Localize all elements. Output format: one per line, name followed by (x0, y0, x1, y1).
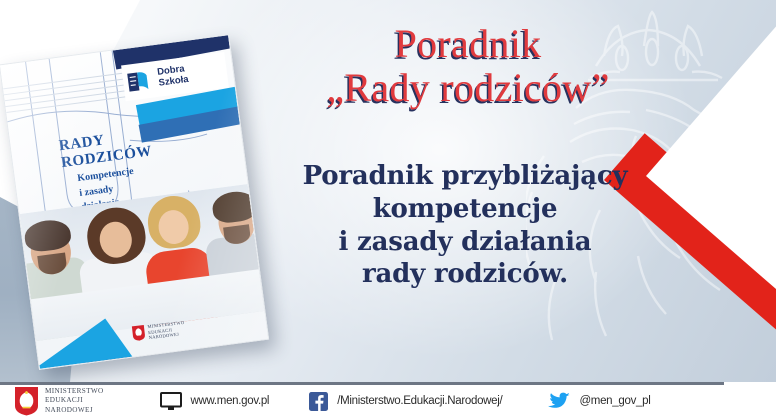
book-cover: Dobra Szkoła RADY RODZICÓW Kompetencje i… (0, 34, 269, 370)
poster-banner: Poradnik „Rady rodziców” Poradnik przybl… (0, 0, 780, 420)
footer-divider (0, 382, 724, 385)
polish-coat-of-arms-icon (131, 324, 146, 341)
footer-website[interactable]: www.men.gov.pl (160, 392, 270, 411)
footer-ministry-logo: MINISTERSTWO EDUKACJI NARODOWEJ (14, 386, 104, 416)
subheadline: Poradnik przybliżający kompetencje i zas… (250, 160, 680, 291)
book-cover-inner: Dobra Szkoła RADY RODZICÓW Kompetencje i… (0, 35, 268, 368)
subheadline-line-3: i zasady działania (250, 226, 680, 259)
subheadline-line-1: Poradnik przybliżający (250, 160, 680, 193)
footer-ministry-line-1: MINISTERSTWO (45, 387, 104, 397)
banner-background: Poradnik „Rady rodziców” Poradnik przybl… (0, 0, 780, 382)
footer-website-label: www.men.gov.pl (191, 395, 270, 407)
twitter-bird-icon (548, 392, 570, 411)
footer-facebook-label: /Ministerstwo.Edukacji.Narodowej/ (337, 395, 502, 407)
monitor-icon (160, 392, 182, 411)
footer-twitter[interactable]: @men_gov_pl (548, 392, 650, 411)
facebook-icon (309, 392, 328, 411)
subheadline-line-4: rady rodziców. (250, 258, 680, 291)
dobra-szkola-logo-line-2: Szkoła (158, 75, 189, 89)
footer-bar: MINISTERSTWO EDUKACJI NARODOWEJ www.men.… (0, 382, 780, 420)
footer-ministry-line-2: EDUKACJI (45, 396, 104, 406)
headline: Poradnik „Rady rodziców” (258, 22, 678, 110)
dobra-szkola-book-icon (126, 68, 155, 95)
dobra-szkola-logo-text: Dobra Szkoła (157, 64, 190, 89)
footer-twitter-label: @men_gov_pl (579, 395, 650, 407)
footer-ministry-line-3: NARODOWEJ (45, 406, 104, 416)
polish-coat-of-arms-icon (14, 386, 39, 416)
headline-line-1: Poradnik (395, 21, 542, 66)
headline-line-2: „Rady rodziców” (258, 66, 678, 110)
footer-ministry-text: MINISTERSTWO EDUKACJI NARODOWEJ (45, 387, 104, 416)
footer-facebook[interactable]: /Ministerstwo.Edukacji.Narodowej/ (309, 392, 502, 411)
subheadline-line-2: kompetencje (250, 193, 680, 226)
